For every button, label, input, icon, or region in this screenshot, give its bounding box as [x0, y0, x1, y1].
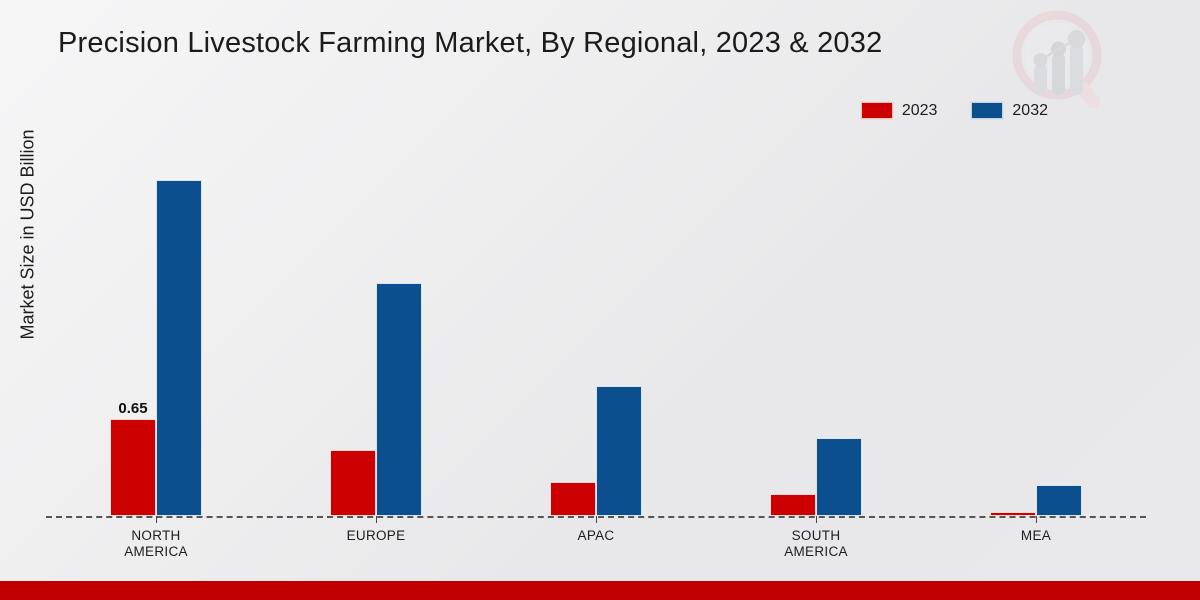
bar-group: SOUTHAMERICA	[706, 150, 926, 516]
bar-2023-north-america[interactable]: 0.65	[110, 419, 156, 516]
bar-groups: 0.65NORTHAMERICAEUROPEAPACSOUTHAMERICAME…	[46, 150, 1146, 516]
x-axis-label-south-america: SOUTHAMERICA	[706, 528, 926, 560]
legend-swatch-2023	[861, 102, 893, 119]
bar-value-label: 0.65	[118, 400, 147, 417]
x-axis-tick	[816, 516, 817, 523]
bar-2023-europe[interactable]	[330, 450, 376, 516]
x-axis-tick	[376, 516, 377, 523]
x-axis-label-north-america: NORTHAMERICA	[46, 528, 266, 560]
bar-pair	[926, 150, 1146, 516]
bar-pair: 0.65	[46, 150, 266, 516]
bar-group: EUROPE	[266, 150, 486, 516]
bar-group: 0.65NORTHAMERICA	[46, 150, 266, 516]
bar-pair	[486, 150, 706, 516]
bar-2032-mea[interactable]	[1036, 485, 1082, 516]
bar-2032-south-america[interactable]	[816, 438, 862, 516]
x-axis-label-line: AMERICA	[706, 544, 926, 560]
chart-title: Precision Livestock Farming Market, By R…	[58, 27, 1058, 60]
y-axis-title: Market Size in USD Billion	[18, 55, 39, 415]
legend-swatch-2032	[971, 102, 1003, 119]
x-axis-label-line: APAC	[486, 528, 706, 544]
bar-2032-apac[interactable]	[596, 386, 642, 516]
x-axis-label-line: EUROPE	[266, 528, 486, 544]
x-axis-tick	[596, 516, 597, 523]
x-axis-label-apac: APAC	[486, 528, 706, 544]
bar-group: MEA	[926, 150, 1146, 516]
bar-2032-europe[interactable]	[376, 283, 422, 516]
x-axis-label-europe: EUROPE	[266, 528, 486, 544]
bar-pair	[706, 150, 926, 516]
bar-2023-south-america[interactable]	[770, 494, 816, 516]
bar-group: APAC	[486, 150, 706, 516]
x-axis-label-line: MEA	[926, 528, 1146, 544]
x-axis-tick	[1036, 516, 1037, 523]
footer-accent-band	[0, 581, 1200, 600]
x-axis-label-line: AMERICA	[46, 544, 266, 560]
x-axis-tick	[156, 516, 157, 523]
x-axis-label-line: NORTH	[46, 528, 266, 544]
legend-label-2032: 2032	[1012, 103, 1048, 119]
x-axis-label-mea: MEA	[926, 528, 1146, 544]
watermark-logo-icon	[1005, 8, 1115, 113]
chart-canvas: Precision Livestock Farming Market, By R…	[0, 0, 1200, 600]
legend-item-2032[interactable]: 2032	[971, 102, 1048, 119]
chart-legend: 2023 2032	[861, 102, 1048, 119]
bar-2032-north-america[interactable]	[156, 180, 202, 516]
legend-label-2023: 2023	[902, 103, 938, 119]
legend-item-2023[interactable]: 2023	[861, 102, 938, 119]
plot-area: 0.65NORTHAMERICAEUROPEAPACSOUTHAMERICAME…	[46, 150, 1146, 516]
bar-pair	[266, 150, 486, 516]
x-axis-label-line: SOUTH	[706, 528, 926, 544]
bar-2023-apac[interactable]	[550, 482, 596, 516]
bar-2023-mea[interactable]	[990, 512, 1036, 516]
